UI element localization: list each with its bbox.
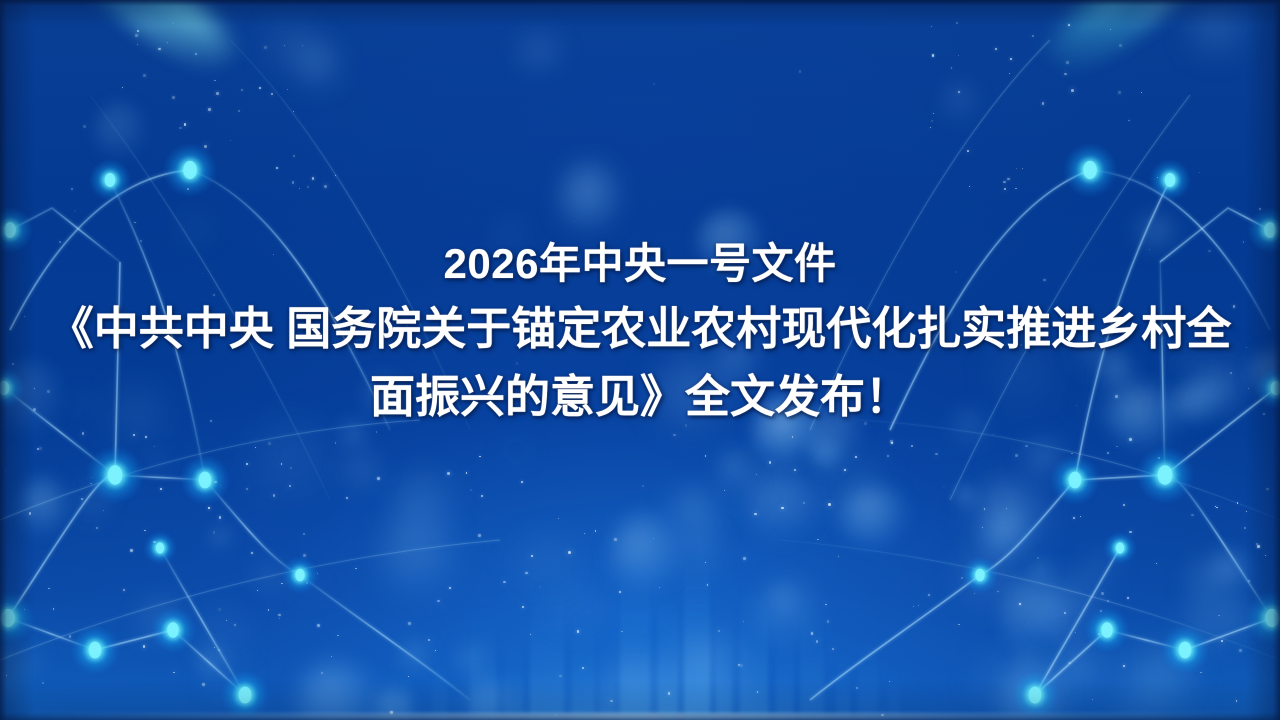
star-speck	[154, 446, 155, 447]
star-speck	[160, 488, 162, 490]
star-speck	[216, 92, 219, 95]
star-speck	[756, 474, 758, 476]
star-speck	[287, 89, 288, 90]
bokeh-particle	[270, 28, 317, 67]
star-speck	[1006, 508, 1007, 509]
bokeh-particle	[810, 439, 843, 474]
star-speck	[951, 67, 953, 69]
star-speck	[179, 127, 181, 129]
star-speck	[158, 48, 161, 51]
bokeh-particle	[742, 502, 762, 517]
star-speck	[39, 447, 41, 449]
star-speck	[574, 221, 575, 222]
star-speck	[1129, 438, 1132, 441]
title-line-3: 面振兴的意见》全文发布！	[0, 368, 1280, 426]
star-speck	[967, 150, 969, 152]
star-speck	[292, 181, 294, 183]
star-speck	[204, 145, 207, 148]
star-speck	[584, 533, 585, 534]
star-speck	[246, 463, 248, 465]
star-speck	[1003, 181, 1006, 184]
bokeh-particle	[94, 101, 145, 162]
bokeh-particle	[942, 79, 980, 128]
star-speck	[1004, 188, 1006, 190]
bokeh-particle	[1194, 9, 1244, 50]
bokeh-particle	[298, 41, 341, 93]
star-speck	[90, 483, 92, 485]
star-speck	[293, 111, 294, 112]
star-speck	[122, 87, 123, 88]
bokeh-particle	[1027, 442, 1062, 475]
star-speck	[803, 502, 805, 504]
skyline-beam	[888, 660, 900, 720]
star-speck	[1259, 208, 1261, 210]
star-speck	[96, 527, 98, 529]
bokeh-particle	[80, 490, 107, 520]
skyline-beam	[505, 628, 523, 720]
star-speck	[376, 431, 378, 433]
bokeh-particle	[750, 468, 812, 544]
star-speck	[794, 469, 796, 471]
star-speck	[281, 463, 283, 465]
light-streak	[1029, 0, 1166, 70]
star-speck	[995, 48, 997, 50]
star-speck	[195, 53, 197, 55]
network-connector-line	[1075, 475, 1165, 480]
star-speck	[346, 497, 348, 499]
star-speck	[956, 22, 958, 24]
star-speck	[1064, 73, 1067, 76]
star-speck	[958, 55, 960, 57]
light-streak	[45, 0, 246, 88]
star-speck	[1119, 44, 1122, 47]
star-speck	[167, 42, 168, 43]
star-speck	[792, 436, 794, 438]
star-speck	[1042, 102, 1044, 104]
star-speck	[29, 512, 32, 515]
star-speck	[208, 507, 209, 508]
skyline-beam	[800, 600, 824, 720]
star-speck	[74, 210, 76, 212]
star-speck	[1215, 506, 1217, 508]
star-speck	[1022, 168, 1024, 170]
star-speck	[1237, 502, 1239, 504]
star-speck	[137, 30, 139, 32]
star-speck	[931, 120, 933, 122]
star-speck	[145, 436, 147, 438]
star-speck	[144, 530, 146, 532]
star-speck	[213, 531, 216, 534]
skyline-beam	[432, 646, 448, 720]
star-speck	[1110, 29, 1111, 30]
star-speck	[673, 434, 676, 437]
star-speck	[238, 110, 240, 112]
star-speck	[135, 34, 138, 37]
bokeh-particle	[716, 447, 756, 494]
star-speck	[214, 80, 216, 82]
skyline-beam	[400, 662, 412, 720]
star-speck	[724, 490, 725, 491]
network-connector-line	[860, 420, 1280, 520]
bokeh-particle	[561, 162, 619, 237]
star-speck	[335, 442, 337, 444]
bokeh-particle	[832, 457, 885, 523]
star-speck	[302, 45, 303, 46]
star-speck	[521, 481, 523, 483]
star-speck	[220, 485, 221, 486]
star-speck	[1116, 446, 1118, 448]
star-speck	[293, 155, 295, 157]
star-speck	[595, 530, 597, 532]
star-speck	[255, 447, 256, 448]
star-speck	[470, 489, 472, 491]
star-speck	[1107, 452, 1109, 454]
skyline-beam	[658, 594, 678, 720]
star-speck	[133, 434, 136, 437]
star-speck	[91, 477, 93, 479]
star-speck	[935, 453, 937, 455]
star-speck	[481, 495, 483, 497]
star-speck	[982, 527, 983, 528]
skyline-beam	[716, 616, 732, 720]
star-speck	[642, 485, 644, 487]
star-speck	[214, 481, 217, 484]
star-speck	[933, 113, 934, 114]
star-speck	[103, 510, 104, 511]
star-speck	[230, 140, 231, 141]
skyline-beam	[858, 622, 878, 720]
star-speck	[307, 186, 309, 188]
star-speck	[312, 177, 314, 179]
star-speck	[377, 477, 380, 480]
star-speck	[324, 185, 327, 188]
star-speck	[1015, 454, 1018, 457]
star-speck	[1158, 457, 1160, 459]
star-speck	[984, 508, 986, 510]
star-speck	[1157, 177, 1158, 178]
bokeh-particle	[735, 469, 760, 498]
star-speck	[1032, 35, 1034, 37]
star-speck	[943, 486, 945, 488]
bokeh-particle	[839, 486, 908, 545]
bokeh-particle	[83, 476, 106, 498]
star-speck	[137, 44, 138, 45]
network-node	[1062, 142, 1118, 198]
star-speck	[558, 518, 559, 519]
star-speck	[1071, 89, 1074, 92]
star-speck	[303, 533, 305, 535]
slide-canvas: 2026年中央一号文件 《中共中央 国务院关于锚定农业农村现代化扎实推进乡村全 …	[0, 0, 1280, 720]
star-speck	[844, 469, 846, 471]
star-speck	[1068, 24, 1070, 26]
star-speck	[208, 108, 211, 111]
star-speck	[993, 434, 994, 435]
star-speck	[284, 45, 285, 46]
light-streak	[1035, 0, 1236, 88]
skyline-beam	[530, 578, 564, 720]
star-speck	[1080, 516, 1082, 518]
star-speck	[705, 455, 706, 456]
network-node	[162, 142, 218, 198]
network-node	[1049, 454, 1101, 506]
star-speck	[264, 46, 267, 49]
star-speck	[81, 498, 83, 500]
star-speck	[246, 488, 248, 490]
star-speck	[931, 26, 932, 27]
star-speck	[1118, 91, 1121, 94]
skyline-beam	[470, 602, 496, 720]
star-speck	[1216, 507, 1218, 509]
star-speck	[134, 222, 136, 224]
star-speck	[887, 455, 889, 457]
star-speck	[1244, 527, 1247, 530]
network-node	[85, 445, 145, 505]
star-speck	[37, 448, 39, 450]
star-speck	[891, 442, 893, 444]
skyline-beam	[600, 642, 614, 720]
star-speck	[289, 485, 291, 487]
network-node	[89, 159, 132, 202]
star-speck	[184, 123, 187, 126]
star-speck	[1129, 531, 1132, 534]
star-speck	[1123, 504, 1125, 506]
star-speck	[754, 513, 756, 515]
skyline-beam	[836, 644, 850, 720]
star-speck	[1141, 92, 1142, 93]
star-speck	[1071, 453, 1073, 455]
star-speck	[299, 188, 300, 189]
title-line-1: 2026年中央一号文件	[0, 238, 1280, 290]
bokeh-particle	[21, 477, 67, 537]
slide-title-block: 2026年中央一号文件 《中共中央 国务院关于锚定农业农村现代化扎实推进乡村全 …	[0, 238, 1280, 426]
star-speck	[271, 93, 273, 95]
star-speck	[1199, 172, 1201, 174]
light-streak	[115, 0, 252, 70]
network-node	[1149, 159, 1192, 202]
star-speck	[3, 226, 5, 228]
star-speck	[447, 472, 450, 475]
star-speck	[273, 494, 275, 496]
network-connector-line	[0, 420, 420, 520]
star-speck	[1128, 120, 1130, 122]
star-speck	[799, 70, 802, 73]
title-line-2: 《中共中央 国务院关于锚定农业农村现代化扎实推进乡村全	[0, 290, 1280, 368]
star-speck	[172, 96, 175, 99]
star-speck	[241, 89, 243, 91]
star-speck	[478, 534, 481, 537]
star-speck	[466, 472, 467, 473]
skyline-beam	[620, 565, 650, 720]
star-speck	[828, 503, 831, 506]
star-speck	[1016, 168, 1017, 169]
star-speck	[855, 456, 857, 458]
star-speck	[930, 127, 931, 128]
star-speck	[1066, 61, 1069, 64]
skyline-beam	[740, 582, 768, 720]
star-speck	[5, 470, 6, 471]
star-speck	[969, 186, 970, 187]
star-speck	[1007, 178, 1010, 181]
bokeh-particle	[147, 452, 169, 473]
star-speck	[890, 440, 893, 443]
star-speck	[259, 87, 261, 89]
star-speck	[781, 507, 784, 510]
star-speck	[479, 456, 480, 457]
star-speck	[1191, 514, 1194, 517]
star-speck	[268, 442, 271, 445]
star-speck	[1025, 445, 1028, 448]
star-speck	[932, 54, 935, 57]
bokeh-particle	[956, 487, 976, 507]
star-speck	[1073, 517, 1074, 518]
bokeh-particle	[255, 420, 330, 507]
star-speck	[911, 445, 913, 447]
star-speck	[769, 461, 771, 463]
star-speck	[173, 23, 174, 24]
bokeh-particle	[345, 450, 379, 495]
star-speck	[143, 74, 146, 77]
star-speck	[1246, 511, 1247, 512]
skyline-beam	[776, 624, 794, 720]
star-speck	[187, 188, 188, 189]
star-speck	[219, 516, 222, 519]
star-speck	[1068, 478, 1070, 480]
city-skyline-glow	[0, 540, 1280, 720]
star-speck	[83, 125, 86, 128]
bokeh-particle	[987, 483, 1019, 515]
bokeh-particle	[516, 32, 567, 74]
skyline-beam	[684, 552, 710, 720]
star-speck	[82, 432, 85, 435]
star-speck	[958, 91, 960, 93]
star-speck	[1015, 188, 1016, 189]
bokeh-particle	[506, 441, 527, 461]
star-speck	[290, 467, 292, 469]
star-speck	[1266, 488, 1268, 490]
skyline-beam	[572, 612, 594, 720]
star-speck	[335, 175, 336, 176]
star-speck	[276, 167, 278, 169]
star-speck	[653, 83, 656, 86]
star-speck	[71, 188, 73, 190]
star-speck	[1010, 58, 1012, 60]
bokeh-particle	[390, 471, 462, 533]
network-connector-line	[115, 475, 205, 480]
bokeh-particle	[668, 489, 726, 540]
network-node	[1135, 445, 1195, 505]
network-node	[179, 454, 231, 506]
bokeh-particle	[795, 485, 827, 516]
star-speck	[1009, 73, 1010, 74]
